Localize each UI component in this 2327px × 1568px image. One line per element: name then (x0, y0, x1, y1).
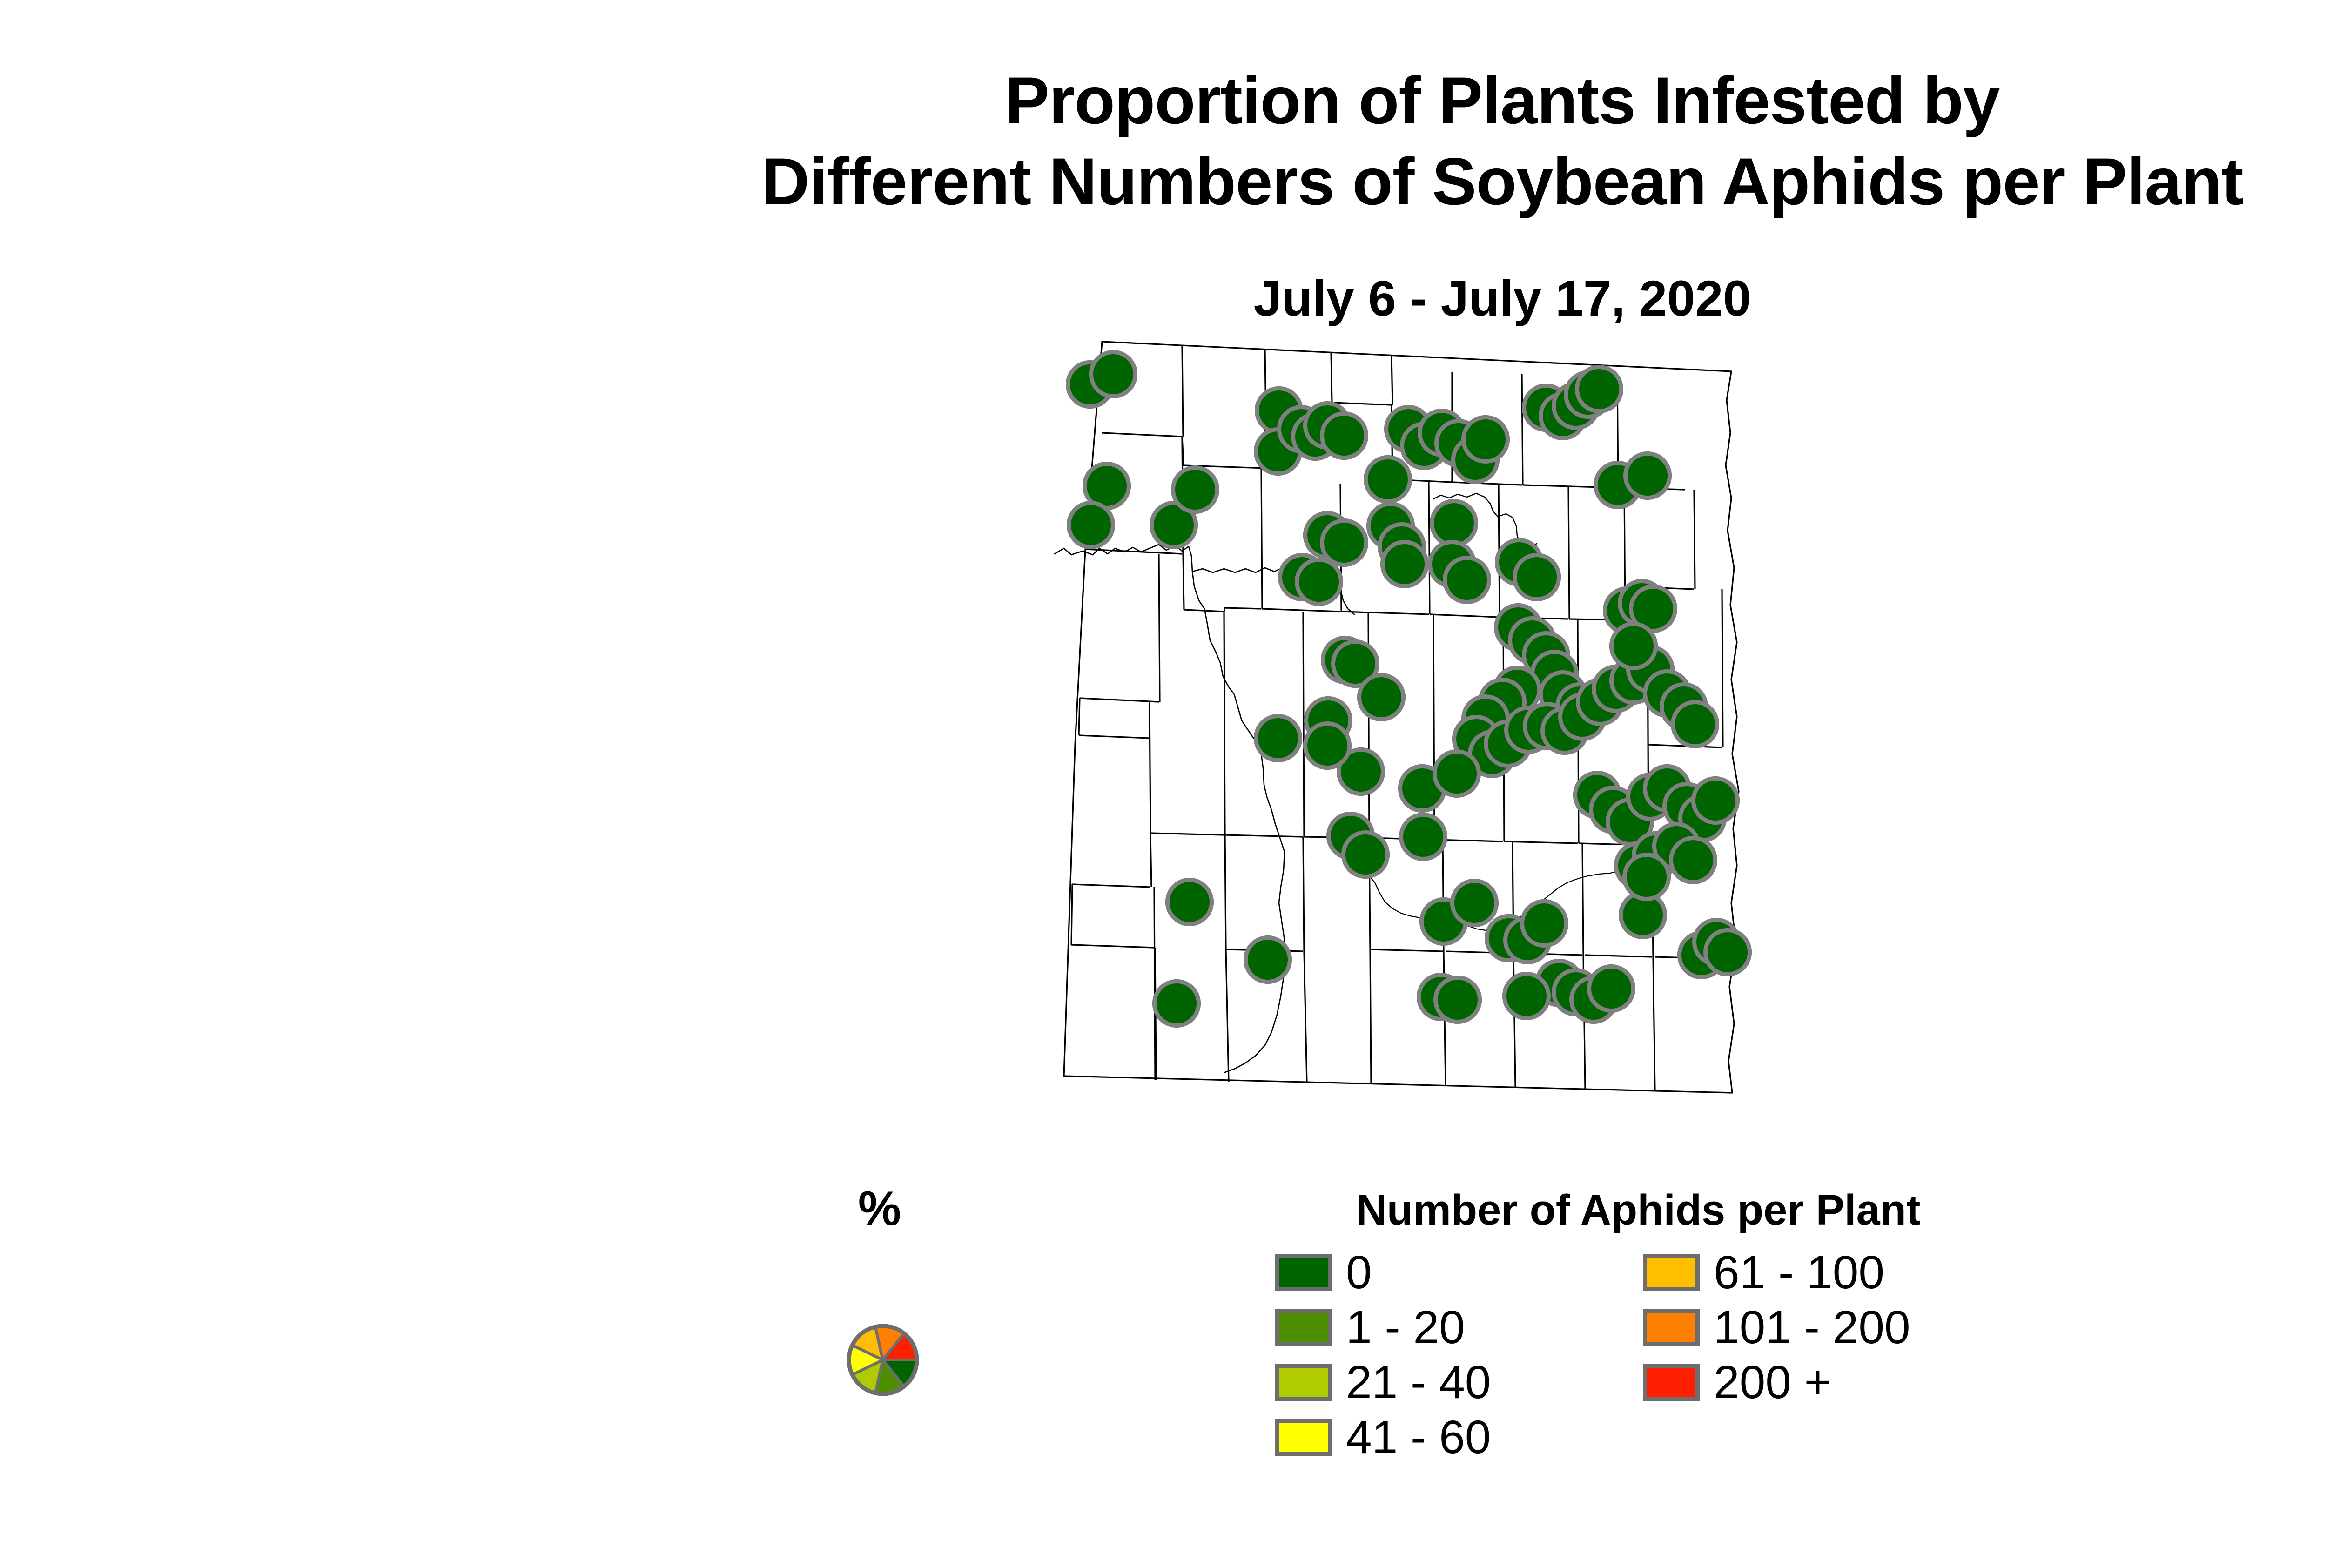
site-pie-marker[interactable] (1254, 714, 1302, 762)
site-pie-marker[interactable] (1364, 455, 1412, 504)
legend-swatch-41-60 (1275, 1419, 1332, 1456)
legend-item-61-100[interactable]: 61 - 100 (1643, 1245, 1997, 1300)
site-pie-marker[interactable] (1089, 350, 1137, 398)
legend-swatch-61-100 (1643, 1254, 1700, 1291)
legend-label-21-40: 21 - 40 (1346, 1359, 1491, 1406)
map-svg (745, 326, 2057, 1126)
site-pie-marker[interactable] (1165, 878, 1214, 926)
legend-swatch-101-200 (1643, 1309, 1700, 1346)
site-pie-marker[interactable] (1513, 553, 1561, 601)
site-pie-marker[interactable] (1320, 518, 1368, 567)
legend-item-0[interactable]: 0 (1275, 1245, 1643, 1300)
legend-label-1-20: 1 - 20 (1346, 1304, 1465, 1351)
site-pie-marker[interactable] (1357, 673, 1406, 721)
site-pie-marker[interactable] (1609, 622, 1658, 670)
site-pie-marker[interactable] (1669, 836, 1717, 884)
site-pie-marker[interactable] (1502, 972, 1551, 1020)
chart-subtitle-date-range: July 6 - July 17, 2020 (0, 269, 2327, 327)
legend-swatch-200-plus (1643, 1364, 1700, 1401)
legend-swatch-1-20 (1275, 1309, 1332, 1346)
site-pie-marker[interactable] (1380, 540, 1429, 588)
site-pie-marker[interactable] (1450, 879, 1499, 927)
site-pie-marker[interactable] (1152, 979, 1201, 1028)
sample-pie-svg (846, 1323, 920, 1397)
legend-swatch-0 (1275, 1254, 1332, 1291)
site-pie-marker[interactable] (1443, 556, 1491, 604)
legend-column-left: 0 1 - 20 21 - 40 41 - 60 (1275, 1245, 1643, 1465)
site-pie-marker[interactable] (1623, 451, 1672, 500)
site-pie-marker[interactable] (1691, 776, 1740, 825)
legend-label-0: 0 (1346, 1249, 1372, 1296)
sample-pie-key (846, 1323, 920, 1397)
site-pie-marker[interactable] (1244, 935, 1292, 984)
site-pie-marker[interactable] (1171, 465, 1219, 514)
site-pie-marker[interactable] (1520, 899, 1568, 948)
legend-columns: 0 1 - 20 21 - 40 41 - 60 61 - 100 1 (1275, 1245, 2001, 1465)
legend-label-101-200: 101 - 200 (1714, 1304, 1910, 1351)
site-pie-marker[interactable] (1622, 853, 1671, 901)
site-pie-marker[interactable] (1587, 964, 1635, 1013)
site-pie-marker[interactable] (1575, 365, 1623, 413)
legend-label-200-plus: 200 + (1714, 1359, 1831, 1406)
legend-title: Number of Aphids per Plant (1275, 1186, 2001, 1235)
site-pie-marker[interactable] (1433, 976, 1482, 1024)
legend-column-right: 61 - 100 101 - 200 200 + (1643, 1245, 1997, 1410)
site-pie-marker[interactable] (1067, 501, 1115, 549)
chart-title-line-2: Different Numbers of Soybean Aphids per … (0, 141, 2327, 222)
legend-item-41-60[interactable]: 41 - 60 (1275, 1410, 1643, 1465)
site-pie-marker[interactable] (1433, 749, 1481, 798)
chart-title-line-1: Proportion of Plants Infested by (0, 61, 2327, 141)
legend-label-41-60: 41 - 60 (1346, 1414, 1491, 1460)
site-pie-marker[interactable] (1320, 411, 1368, 460)
site-pie-marker[interactable] (1703, 928, 1752, 976)
site-pie-marker[interactable] (1303, 721, 1352, 770)
map-legend: Number of Aphids per Plant 0 1 - 20 21 -… (1275, 1186, 2001, 1465)
chart-title-block: Proportion of Plants Infested by Differe… (0, 61, 2327, 223)
legend-item-200-plus[interactable]: 200 + (1643, 1355, 1997, 1410)
legend-swatch-21-40 (1275, 1364, 1332, 1401)
site-pie-marker[interactable] (1341, 830, 1390, 879)
site-pie-marker[interactable] (1399, 813, 1447, 861)
legend-item-1-20[interactable]: 1 - 20 (1275, 1300, 1643, 1355)
legend-item-101-200[interactable]: 101 - 200 (1643, 1300, 1997, 1355)
site-pie-marker[interactable] (1671, 700, 1719, 748)
north-dakota-county-map[interactable] (745, 326, 2057, 1126)
legend-label-61-100: 61 - 100 (1714, 1249, 1884, 1296)
legend-item-21-40[interactable]: 21 - 40 (1275, 1355, 1643, 1410)
site-pie-marker[interactable] (1461, 415, 1510, 464)
percent-axis-label: % (833, 1181, 926, 1237)
